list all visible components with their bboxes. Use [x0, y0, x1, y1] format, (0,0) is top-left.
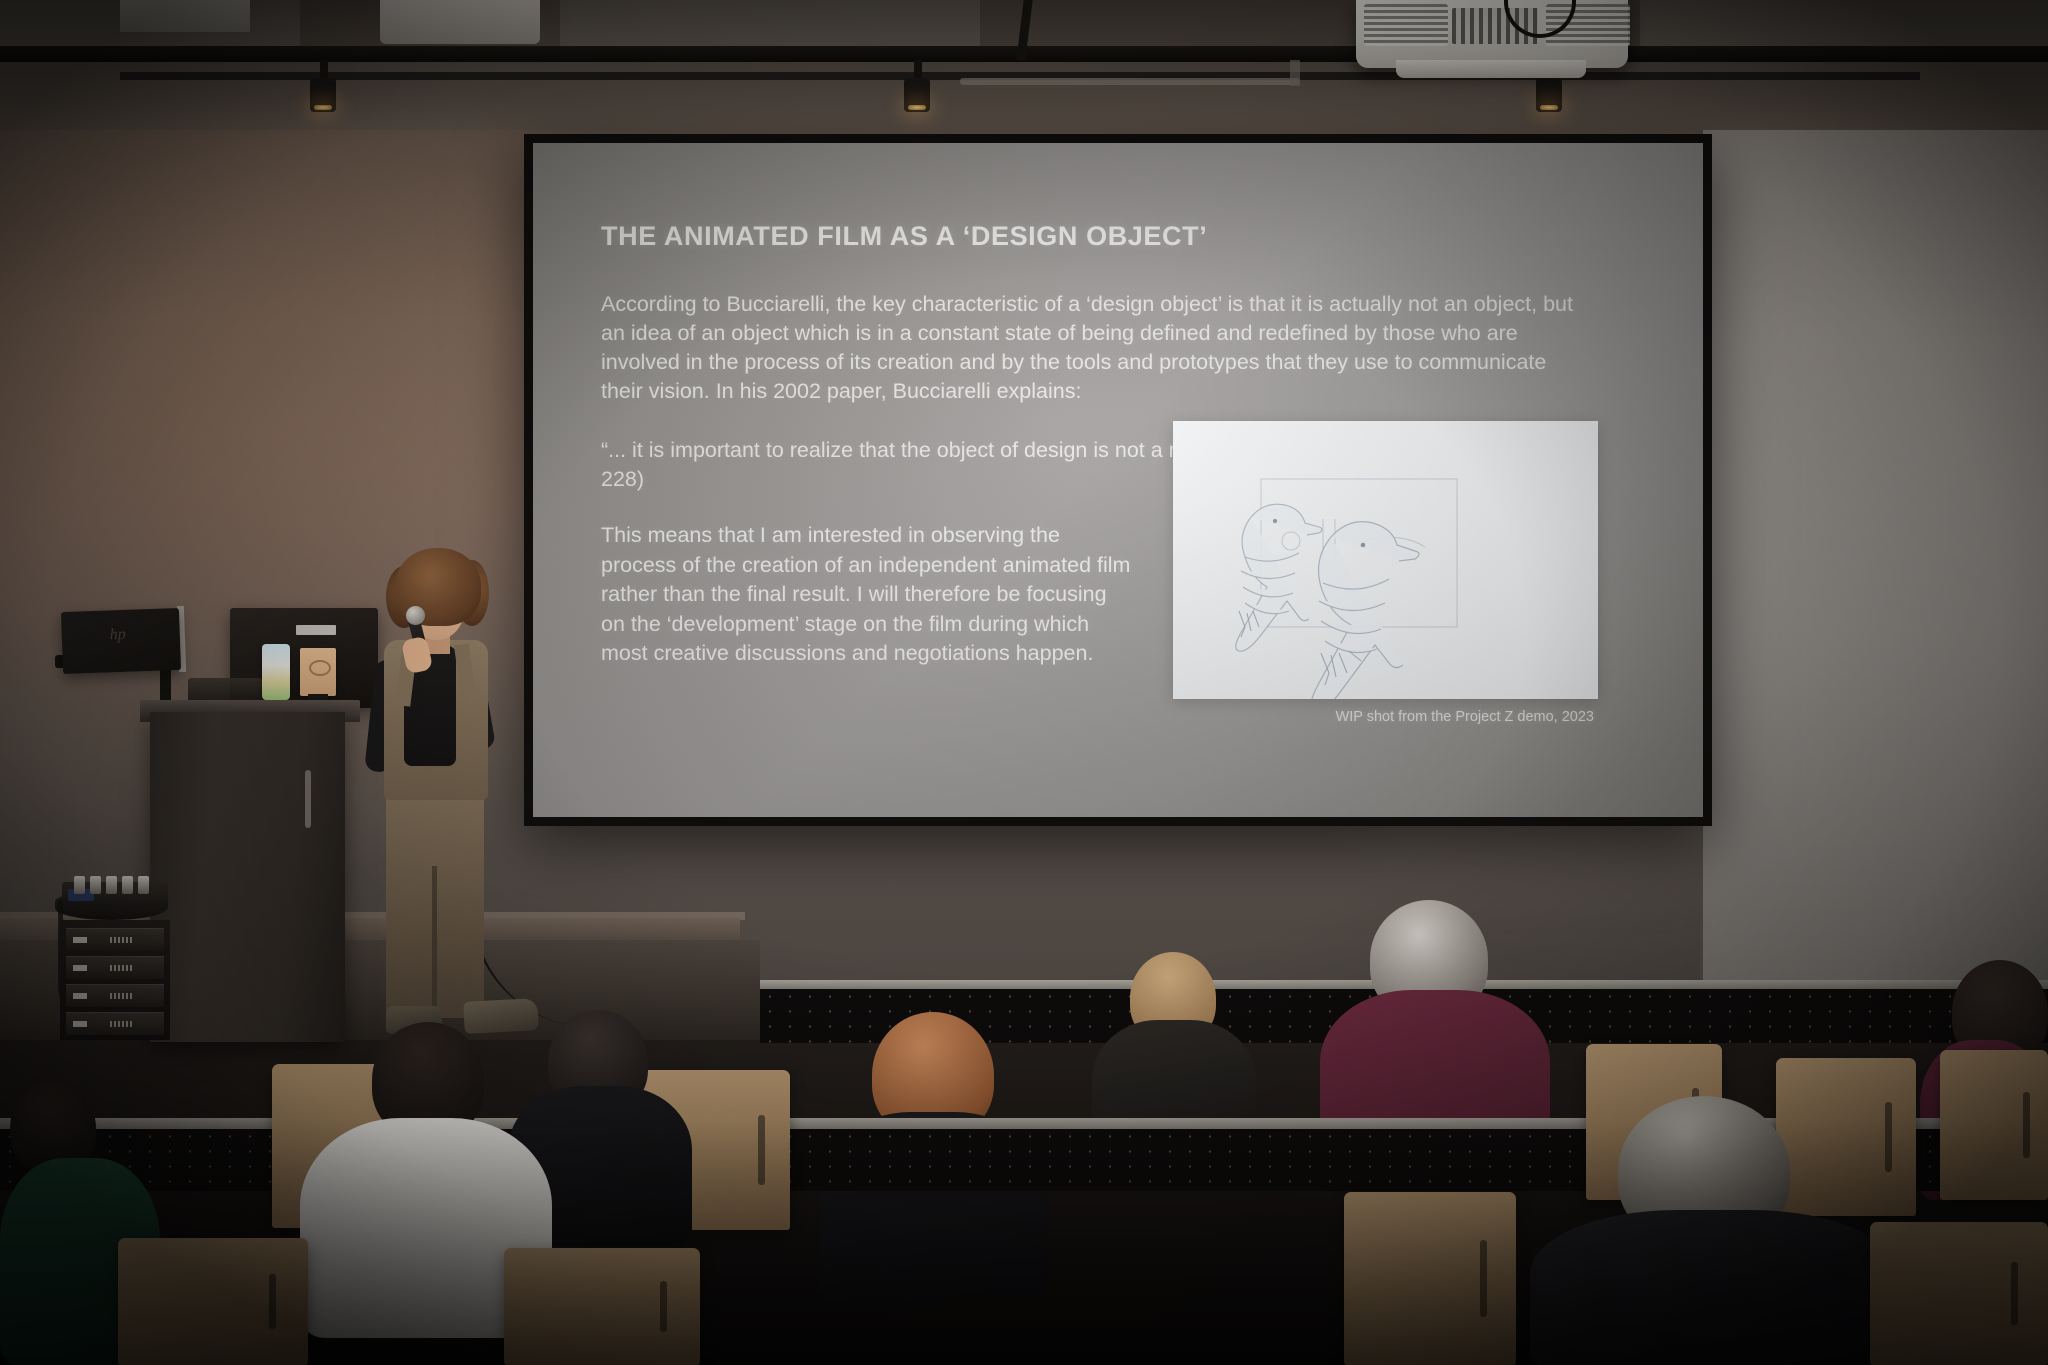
- track-light-icon: [904, 78, 930, 112]
- xlr-connector: [90, 876, 101, 894]
- chair: [504, 1248, 700, 1365]
- air-duct: [380, 0, 540, 44]
- rack-unit: [66, 984, 164, 1007]
- air-duct-secondary: [120, 0, 250, 32]
- chair: [118, 1238, 308, 1365]
- hp-monitor: [61, 608, 181, 674]
- presentation-slide: THE ANIMATED FILM AS A ‘DESIGN OBJECT’ A…: [533, 143, 1703, 817]
- tabletop-sign: [300, 648, 336, 696]
- ceiling-projector: [1356, 0, 1628, 68]
- slide-title: THE ANIMATED FILM AS A ‘DESIGN OBJECT’: [601, 221, 1641, 252]
- xlr-connector: [122, 876, 133, 894]
- chair: [1870, 1222, 2048, 1365]
- rack-unit: [66, 956, 164, 979]
- ceiling-pipe-drop: [1290, 60, 1300, 86]
- chair: [1344, 1192, 1516, 1365]
- ceiling-pipe: [960, 78, 1300, 85]
- rack-unit: [66, 1012, 164, 1035]
- rack-unit: [66, 928, 164, 951]
- microphone-head: [406, 606, 425, 625]
- xlr-connector: [138, 876, 149, 894]
- slide-paragraph-1: According to Bucciarelli, the key charac…: [601, 290, 1581, 406]
- sanitizing-wipes-canister: [262, 644, 290, 700]
- lecture-hall-photo: THE ANIMATED FILM AS A ‘DESIGN OBJECT’ A…: [0, 0, 2048, 1365]
- bird-sketch-icon: [1173, 421, 1598, 699]
- track-light-icon: [1536, 78, 1562, 112]
- projection-screen: THE ANIMATED FILM AS A ‘DESIGN OBJECT’ A…: [533, 143, 1703, 817]
- xlr-connector: [74, 876, 85, 894]
- speaker-shoe: [463, 998, 539, 1034]
- side-wall: [1700, 60, 2048, 1000]
- projector-lens: [1396, 60, 1586, 78]
- track-light-icon: [310, 78, 336, 112]
- slide-image-caption: WIP shot from the Project Z demo, 2023: [1173, 709, 1598, 725]
- audio-rack: [60, 920, 170, 1040]
- slide-paragraph-2: This means that I am interested in obser…: [601, 521, 1131, 669]
- projection-screen-frame: THE ANIMATED FILM AS A ‘DESIGN OBJECT’ A…: [524, 134, 1712, 826]
- chair: [1940, 1050, 2048, 1200]
- speaker-leg-seam: [432, 866, 437, 1018]
- slide-image-bird-sketch: [1173, 421, 1598, 699]
- chair: [1776, 1058, 1916, 1216]
- xlr-connector: [106, 876, 117, 894]
- monitor-label-sticker: [296, 625, 336, 635]
- podium-handle: [305, 770, 311, 828]
- audience-body: [1530, 1210, 1898, 1365]
